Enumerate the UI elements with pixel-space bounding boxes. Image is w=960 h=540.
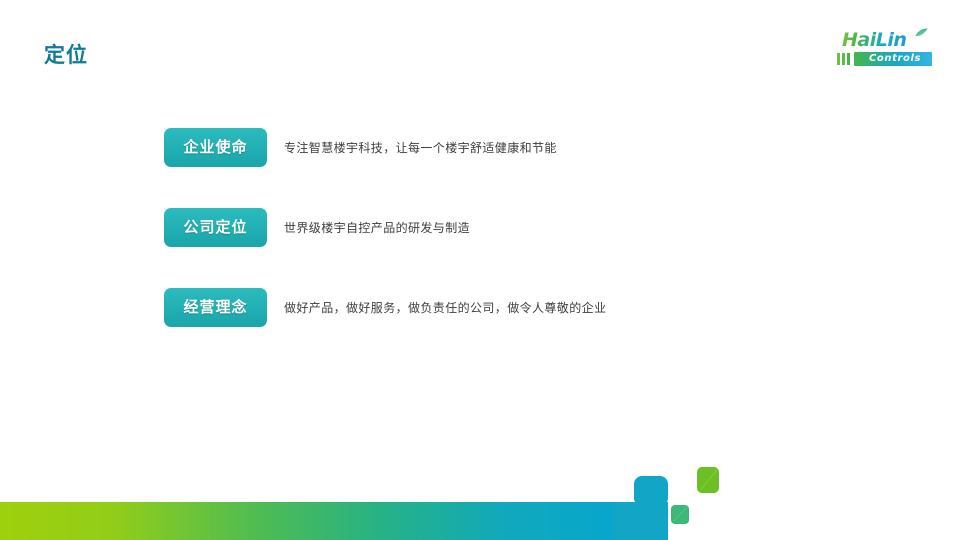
badge-mission[interactable]: 企业使命 bbox=[164, 128, 267, 167]
philosophy-description: 做好产品，做好服务，做负责任的公司，做令人尊敬的企业 bbox=[284, 299, 606, 317]
badge-philosophy[interactable]: 经营理念 bbox=[164, 288, 267, 327]
footer-gradient-bar bbox=[0, 502, 612, 540]
footer-cyan-stub bbox=[652, 502, 668, 540]
logo-tick-icon bbox=[847, 53, 850, 65]
badge-positioning[interactable]: 公司定位 bbox=[164, 208, 267, 247]
footer-green-square-small bbox=[671, 505, 689, 524]
logo-tagline: Controls bbox=[858, 52, 932, 66]
footer-green-square-large-fold bbox=[701, 470, 717, 489]
footer-cyan-tab bbox=[634, 476, 668, 506]
logo-tick-icon bbox=[842, 53, 845, 65]
mission-description: 专注智慧楼宇科技，让每一个楼宇舒适健康和节能 bbox=[284, 139, 557, 157]
list-item: 企业使命 专注智慧楼宇科技，让每一个楼宇舒适健康和节能 bbox=[164, 128, 864, 170]
positioning-description: 世界级楼宇自控产品的研发与制造 bbox=[284, 219, 470, 237]
logo-tick-icon bbox=[837, 53, 840, 65]
footer-cyan-step bbox=[612, 478, 662, 540]
slide-canvas: 定位 HaiLin Controls 企业使命 专注智慧楼宇科技，让每一个楼宇舒… bbox=[0, 0, 960, 540]
logo-tagline-bar: Controls bbox=[836, 52, 932, 66]
footer-green-square-large bbox=[697, 467, 719, 493]
brand-logo: HaiLin Controls bbox=[836, 28, 932, 70]
footer-green-square-small-fold bbox=[674, 507, 687, 521]
hailin-leaf-icon bbox=[915, 28, 928, 37]
logo-wordmark: HaiLin bbox=[842, 28, 906, 52]
list-item: 经营理念 做好产品，做好服务，做负责任的公司，做令人尊敬的企业 bbox=[164, 288, 864, 330]
list-item: 公司定位 世界级楼宇自控产品的研发与制造 bbox=[164, 208, 864, 250]
positioning-list: 企业使命 专注智慧楼宇科技，让每一个楼宇舒适健康和节能 公司定位 世界级楼宇自控… bbox=[164, 128, 864, 330]
page-title: 定位 bbox=[44, 40, 88, 70]
